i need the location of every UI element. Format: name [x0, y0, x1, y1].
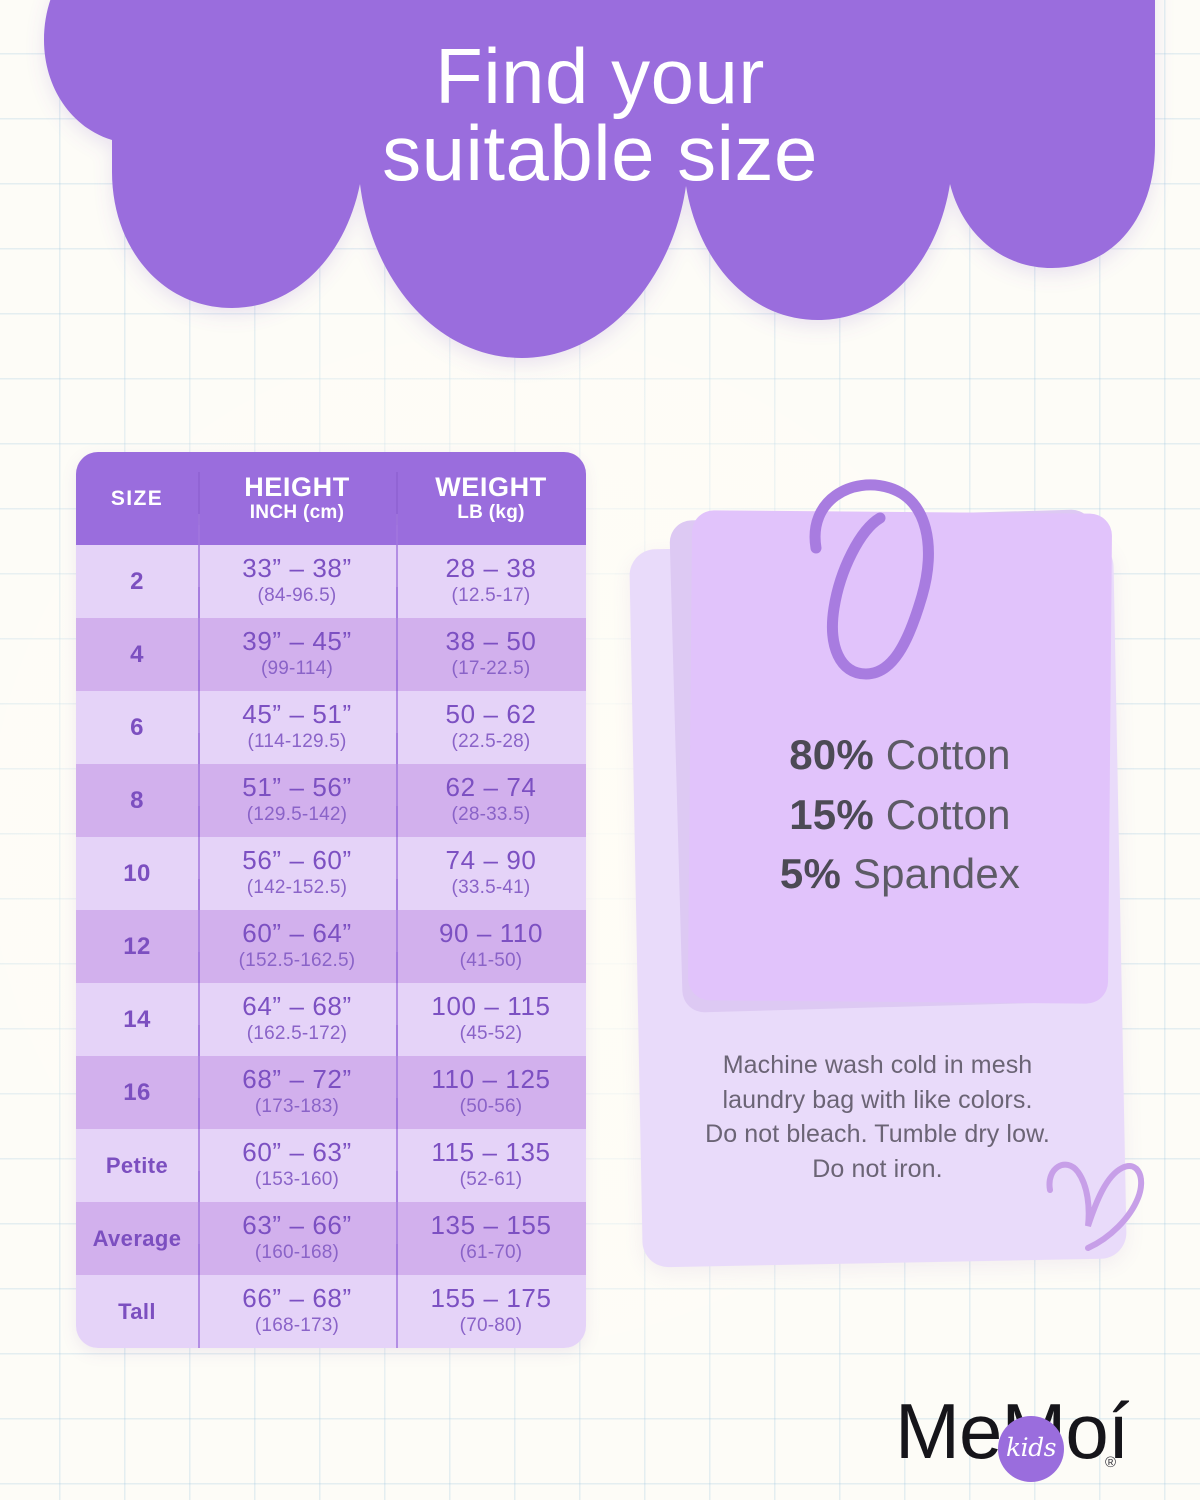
cell-size: Tall [76, 1299, 198, 1325]
weight-kg: (22.5-28) [396, 730, 586, 755]
cell-weight: 110 – 125(50-56) [396, 1065, 586, 1120]
cell-height: 63” – 66”(160-168) [198, 1211, 396, 1266]
weight-kg: (28-33.5) [396, 803, 586, 828]
size-value: 16 [76, 1079, 198, 1107]
height-inches: 51” – 56” [198, 773, 396, 802]
cell-height: 60” – 64”(152.5-162.5) [198, 919, 396, 974]
cell-weight: 74 – 90(33.5-41) [396, 846, 586, 901]
height-cm: (99-114) [198, 657, 396, 682]
size-value: 10 [76, 860, 198, 888]
cell-size: 10 [76, 860, 198, 888]
height-cm: (153-160) [198, 1168, 396, 1193]
cell-weight: 50 – 62(22.5-28) [396, 700, 586, 755]
height-inches: 45” – 51” [198, 700, 396, 729]
height-inches: 68” – 72” [198, 1065, 396, 1094]
weight-kg: (33.5-41) [396, 876, 586, 901]
table-header-row: SIZE HEIGHT INCH (cm) WEIGHT LB (kg) [76, 452, 586, 545]
cell-size: 2 [76, 568, 198, 596]
fabric-material: Cotton [874, 791, 1011, 838]
logo-kids-label: kids [998, 1433, 1064, 1462]
column-header-height: HEIGHT INCH (cm) [198, 472, 396, 525]
size-value: Petite [76, 1153, 198, 1179]
height-cm: (142-152.5) [198, 876, 396, 901]
registered-trademark-symbol: ® [1105, 1454, 1116, 1471]
cell-weight: 155 – 175(70-80) [396, 1284, 586, 1339]
paperclip-icon [788, 478, 968, 683]
height-cm: (168-173) [198, 1314, 396, 1339]
weight-lb: 100 – 115 [396, 992, 586, 1021]
weight-lb: 90 – 110 [396, 919, 586, 948]
fabric-composition-list: 80% Cotton15% Cotton5% Spandex [690, 725, 1110, 904]
table-row: 1260” – 64”(152.5-162.5)90 – 110(41-50) [76, 910, 586, 983]
cell-height: 60” – 63”(153-160) [198, 1138, 396, 1193]
table-row: 233” – 38”(84-96.5)28 – 38(12.5-17) [76, 545, 586, 618]
fabric-material: Spandex [841, 850, 1020, 897]
cell-size: 12 [76, 933, 198, 961]
cell-size: 14 [76, 1006, 198, 1034]
height-inches: 60” – 64” [198, 919, 396, 948]
table-row: 645” – 51”(114-129.5)50 – 62(22.5-28) [76, 691, 586, 764]
cell-size: 8 [76, 787, 198, 815]
size-value: 14 [76, 1006, 198, 1034]
cell-weight: 38 – 50(17-22.5) [396, 627, 586, 682]
cell-weight: 62 – 74(28-33.5) [396, 773, 586, 828]
column-header-size: SIZE [76, 487, 198, 511]
brand-logo: MeMoí kids ® [895, 1392, 1175, 1492]
height-inches: 56” – 60” [198, 846, 396, 875]
weight-lb: 135 – 155 [396, 1211, 586, 1240]
weight-kg: (17-22.5) [396, 657, 586, 682]
cell-weight: 135 – 155(61-70) [396, 1211, 586, 1266]
fabric-percent: 5% [780, 850, 841, 897]
table-row: 439” – 45”(99-114)38 – 50(17-22.5) [76, 618, 586, 691]
weight-kg: (52-61) [396, 1168, 586, 1193]
cell-height: 33” – 38”(84-96.5) [198, 554, 396, 609]
height-inches: 60” – 63” [198, 1138, 396, 1167]
weight-kg: (61-70) [396, 1241, 586, 1266]
cell-height: 56” – 60”(142-152.5) [198, 846, 396, 901]
fabric-percent: 15% [789, 791, 874, 838]
table-row: 1056” – 60”(142-152.5)74 – 90(33.5-41) [76, 837, 586, 910]
size-value: Average [76, 1226, 198, 1252]
size-value: 4 [76, 641, 198, 669]
cell-height: 45” – 51”(114-129.5) [198, 700, 396, 755]
cell-weight: 90 – 110(41-50) [396, 919, 586, 974]
weight-lb: 115 – 135 [396, 1138, 586, 1167]
table-row: 1668” – 72”(173-183)110 – 125(50-56) [76, 1056, 586, 1129]
column-header-weight: WEIGHT LB (kg) [396, 472, 586, 525]
cell-height: 64” – 68”(162.5-172) [198, 992, 396, 1047]
cell-height: 51” – 56”(129.5-142) [198, 773, 396, 828]
weight-kg: (12.5-17) [396, 584, 586, 609]
table-body: 233” – 38”(84-96.5)28 – 38(12.5-17)439” … [76, 545, 586, 1348]
height-inches: 63” – 66” [198, 1211, 396, 1240]
weight-kg: (70-80) [396, 1314, 586, 1339]
cell-height: 66” – 68”(168-173) [198, 1284, 396, 1339]
height-cm: (162.5-172) [198, 1022, 396, 1047]
fabric-material: Cotton [874, 731, 1011, 778]
height-inches: 39” – 45” [198, 627, 396, 656]
weight-kg: (45-52) [396, 1022, 586, 1047]
weight-lb: 155 – 175 [396, 1284, 586, 1313]
care-instructions-text: Machine wash cold in mesh laundry bag wi… [650, 1048, 1105, 1186]
size-value: Tall [76, 1299, 198, 1325]
height-cm: (160-168) [198, 1241, 396, 1266]
weight-lb: 38 – 50 [396, 627, 586, 656]
size-chart-table: SIZE HEIGHT INCH (cm) WEIGHT LB (kg) 233… [76, 452, 586, 1348]
height-inches: 66” – 68” [198, 1284, 396, 1313]
weight-kg: (41-50) [396, 949, 586, 974]
table-row: 1464” – 68”(162.5-172)100 – 115(45-52) [76, 983, 586, 1056]
cell-height: 39” – 45”(99-114) [198, 627, 396, 682]
height-inches: 33” – 38” [198, 554, 396, 583]
weight-lb: 74 – 90 [396, 846, 586, 875]
size-value: 6 [76, 714, 198, 742]
size-value: 8 [76, 787, 198, 815]
height-inches: 64” – 68” [198, 992, 396, 1021]
height-cm: (152.5-162.5) [198, 949, 396, 974]
cell-weight: 28 – 38(12.5-17) [396, 554, 586, 609]
weight-lb: 62 – 74 [396, 773, 586, 802]
height-cm: (129.5-142) [198, 803, 396, 828]
table-row: Tall66” – 68”(168-173)155 – 175(70-80) [76, 1275, 586, 1348]
size-value: 2 [76, 568, 198, 596]
size-value: 12 [76, 933, 198, 961]
height-cm: (173-183) [198, 1095, 396, 1120]
fabric-line: 15% Cotton [690, 785, 1110, 845]
cell-size: Petite [76, 1153, 198, 1179]
table-row: Petite60” – 63”(153-160)115 – 135(52-61) [76, 1129, 586, 1202]
height-cm: (114-129.5) [198, 730, 396, 755]
cell-weight: 100 – 115(45-52) [396, 992, 586, 1047]
cell-size: 4 [76, 641, 198, 669]
weight-lb: 50 – 62 [396, 700, 586, 729]
fabric-line: 5% Spandex [690, 844, 1110, 904]
table-row: 851” – 56”(129.5-142)62 – 74(28-33.5) [76, 764, 586, 837]
cell-height: 68” – 72”(173-183) [198, 1065, 396, 1120]
weight-kg: (50-56) [396, 1095, 586, 1120]
weight-lb: 110 – 125 [396, 1065, 586, 1094]
heart-doodle-icon [1042, 1152, 1152, 1262]
weight-lb: 28 – 38 [396, 554, 586, 583]
table-row: Average63” – 66”(160-168)135 – 155(61-70… [76, 1202, 586, 1275]
fabric-percent: 80% [789, 731, 874, 778]
cell-weight: 115 – 135(52-61) [396, 1138, 586, 1193]
height-cm: (84-96.5) [198, 584, 396, 609]
cell-size: Average [76, 1226, 198, 1252]
cell-size: 6 [76, 714, 198, 742]
page-title: Find your suitable size [0, 38, 1200, 192]
cell-size: 16 [76, 1079, 198, 1107]
fabric-line: 80% Cotton [690, 725, 1110, 785]
